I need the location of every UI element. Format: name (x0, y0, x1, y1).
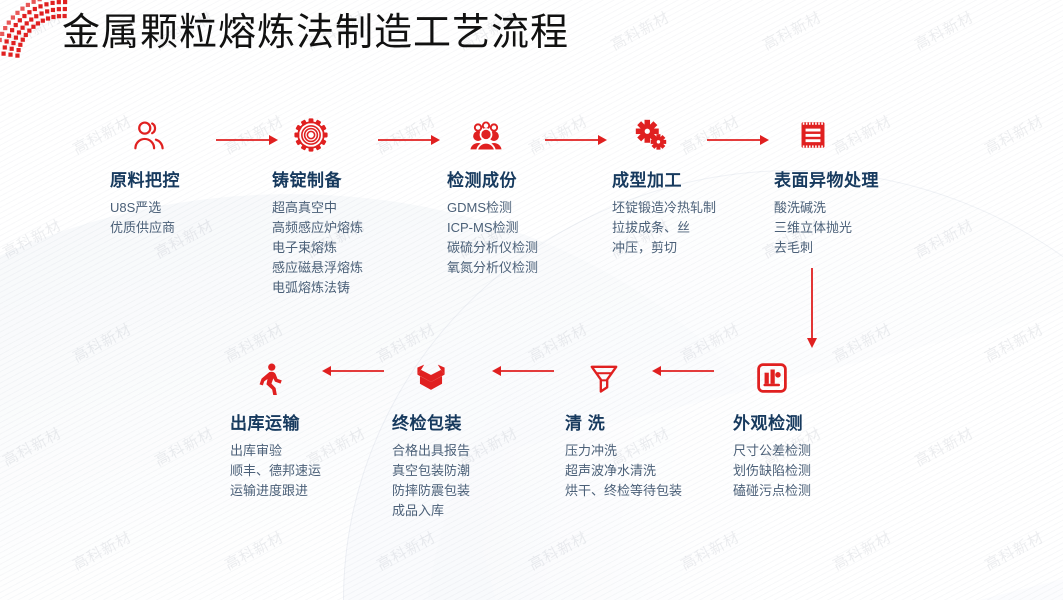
connector-arrow-right (545, 133, 607, 145)
step-icon-wrapper (565, 355, 755, 401)
document-lines-icon (796, 118, 830, 152)
step-detail-line: 运输进度跟进 (230, 481, 420, 501)
watermark-text: 高科新材 (0, 422, 65, 471)
running-person-icon (252, 361, 286, 395)
step-detail-line: 超高真空中 (272, 198, 462, 218)
watermark-text: 高科新材 (69, 318, 135, 367)
watermark-text: 高科新材 (981, 526, 1047, 575)
step-title: 出库运输 (230, 409, 420, 434)
step-detail-list: GDMS检测ICP-MS检测碳硫分析仪检测氧氮分析仪检测 (447, 198, 637, 278)
step-icon-wrapper (447, 112, 637, 158)
connector-arrow-left (652, 364, 714, 376)
step-detail-line: 尺寸公差检测 (733, 441, 923, 461)
arrow-glyph (545, 134, 607, 146)
step-detail-line: 感应磁悬浮熔炼 (272, 258, 462, 278)
step-icon-wrapper (392, 355, 582, 401)
step-detail-line: 顺丰、德邦速运 (230, 461, 420, 481)
arrow-glyph (652, 365, 714, 377)
arrow-glyph (707, 134, 769, 146)
step-detail-list: 酸洗碱洗三维立体抛光去毛刺 (774, 198, 964, 258)
step-detail-line: 超声波净水清洗 (565, 461, 755, 481)
step-detail-line: 氧氮分析仪检测 (447, 258, 637, 278)
funnel-icon (587, 361, 621, 395)
step-detail-line: 合格出具报告 (392, 441, 582, 461)
process-step-composition-inspection[interactable]: 检测成份GDMS检测ICP-MS检测碳硫分析仪检测氧氮分析仪检测 (447, 112, 637, 278)
watermark-text: 高科新材 (373, 526, 439, 575)
step-detail-line: 划伤缺陷检测 (733, 461, 923, 481)
step-detail-line: 去毛刺 (774, 238, 964, 258)
connector-arrow-right (216, 133, 278, 145)
step-icon-wrapper (733, 355, 923, 401)
step-icon-wrapper (774, 112, 964, 158)
people-group-icon (469, 118, 503, 152)
watermark-text: 高科新材 (151, 422, 217, 471)
watermark-text: 高科新材 (981, 318, 1047, 367)
page-title: 金属颗粒熔炼法制造工艺流程 (62, 6, 569, 58)
step-detail-line: 磕碰污点检测 (733, 481, 923, 501)
step-detail-line: 烘干、终检等待包装 (565, 481, 685, 501)
arrow-glyph (378, 134, 440, 146)
step-detail-line: 三维立体抛光 (774, 218, 964, 238)
step-detail-line: 酸洗碱洗 (774, 198, 964, 218)
step-detail-list: 压力冲洗超声波净水清洗烘干、终检等待包装 (565, 441, 755, 501)
step-detail-list: 出库审验顺丰、德邦速运运输进度跟进 (230, 441, 420, 501)
step-detail-line: GDMS检测 (447, 198, 637, 218)
process-step-surface-treatment[interactable]: 表面异物处理酸洗碱洗三维立体抛光去毛刺 (774, 112, 964, 258)
step-detail-line: 碳硫分析仪检测 (447, 238, 637, 258)
step-detail-line: 压力冲洗 (565, 441, 755, 461)
watermark-text: 高科新材 (677, 526, 743, 575)
step-detail-list: 尺寸公差检测划伤缺陷检测磕碰污点检测 (733, 441, 923, 501)
watermark-text: 高科新材 (911, 6, 977, 55)
process-step-appearance-inspection[interactable]: 外观检测尺寸公差检测划伤缺陷检测磕碰污点检测 (733, 355, 923, 501)
step-title: 表面异物处理 (774, 166, 964, 191)
step-detail-line: ICP-MS检测 (447, 218, 637, 238)
connector-arrow-right (707, 133, 769, 145)
two-people-outline-icon (132, 118, 166, 152)
watermark-text: 高科新材 (829, 526, 895, 575)
step-detail-line: 防摔防震包装 (392, 481, 582, 501)
step-detail-line: 电子束熔炼 (272, 238, 462, 258)
watermark-text: 高科新材 (69, 526, 135, 575)
watermark-text: 高科新材 (607, 6, 673, 55)
step-detail-line: 电弧熔炼法铸 (272, 278, 462, 298)
step-title: 铸锭制备 (272, 166, 462, 191)
process-step-final-inspection-packaging[interactable]: 终检包装合格出具报告真空包装防潮防摔防震包装成品入库 (392, 355, 582, 521)
connector-arrow-down (806, 268, 818, 348)
step-detail-line: 高频感应炉熔炼 (272, 218, 462, 238)
step-title: 终检包装 (392, 409, 582, 434)
watermark-text: 高科新材 (221, 526, 287, 575)
arrow-glyph (216, 134, 278, 146)
arrow-glyph (322, 365, 384, 377)
step-detail-list: 超高真空中高频感应炉熔炼电子束熔炼感应磁悬浮熔炼电弧熔炼法铸 (272, 198, 462, 298)
step-detail-line: 真空包装防潮 (392, 461, 582, 481)
connector-arrow-right (378, 133, 440, 145)
step-icon-wrapper (230, 355, 420, 401)
step-detail-list: 合格出具报告真空包装防潮防摔防震包装成品入库 (392, 441, 582, 521)
double-gear-icon (634, 118, 668, 152)
connector-arrow-left (322, 364, 384, 376)
watermark-text: 高科新材 (0, 214, 65, 263)
gear-concentric-icon (294, 118, 328, 152)
step-title: 清 洗 (565, 409, 755, 434)
arrow-glyph (806, 268, 818, 348)
microscope-box-icon (755, 361, 789, 395)
watermark-text: 高科新材 (525, 526, 591, 575)
step-title: 外观检测 (733, 409, 923, 434)
arrow-glyph (492, 365, 554, 377)
connector-arrow-left (492, 364, 554, 376)
watermark-text: 高科新材 (759, 6, 825, 55)
watermark-text: 高科新材 (981, 110, 1047, 159)
step-detail-line: 出库审验 (230, 441, 420, 461)
step-detail-line: 成品入库 (392, 501, 582, 521)
step-title: 检测成份 (447, 166, 637, 191)
